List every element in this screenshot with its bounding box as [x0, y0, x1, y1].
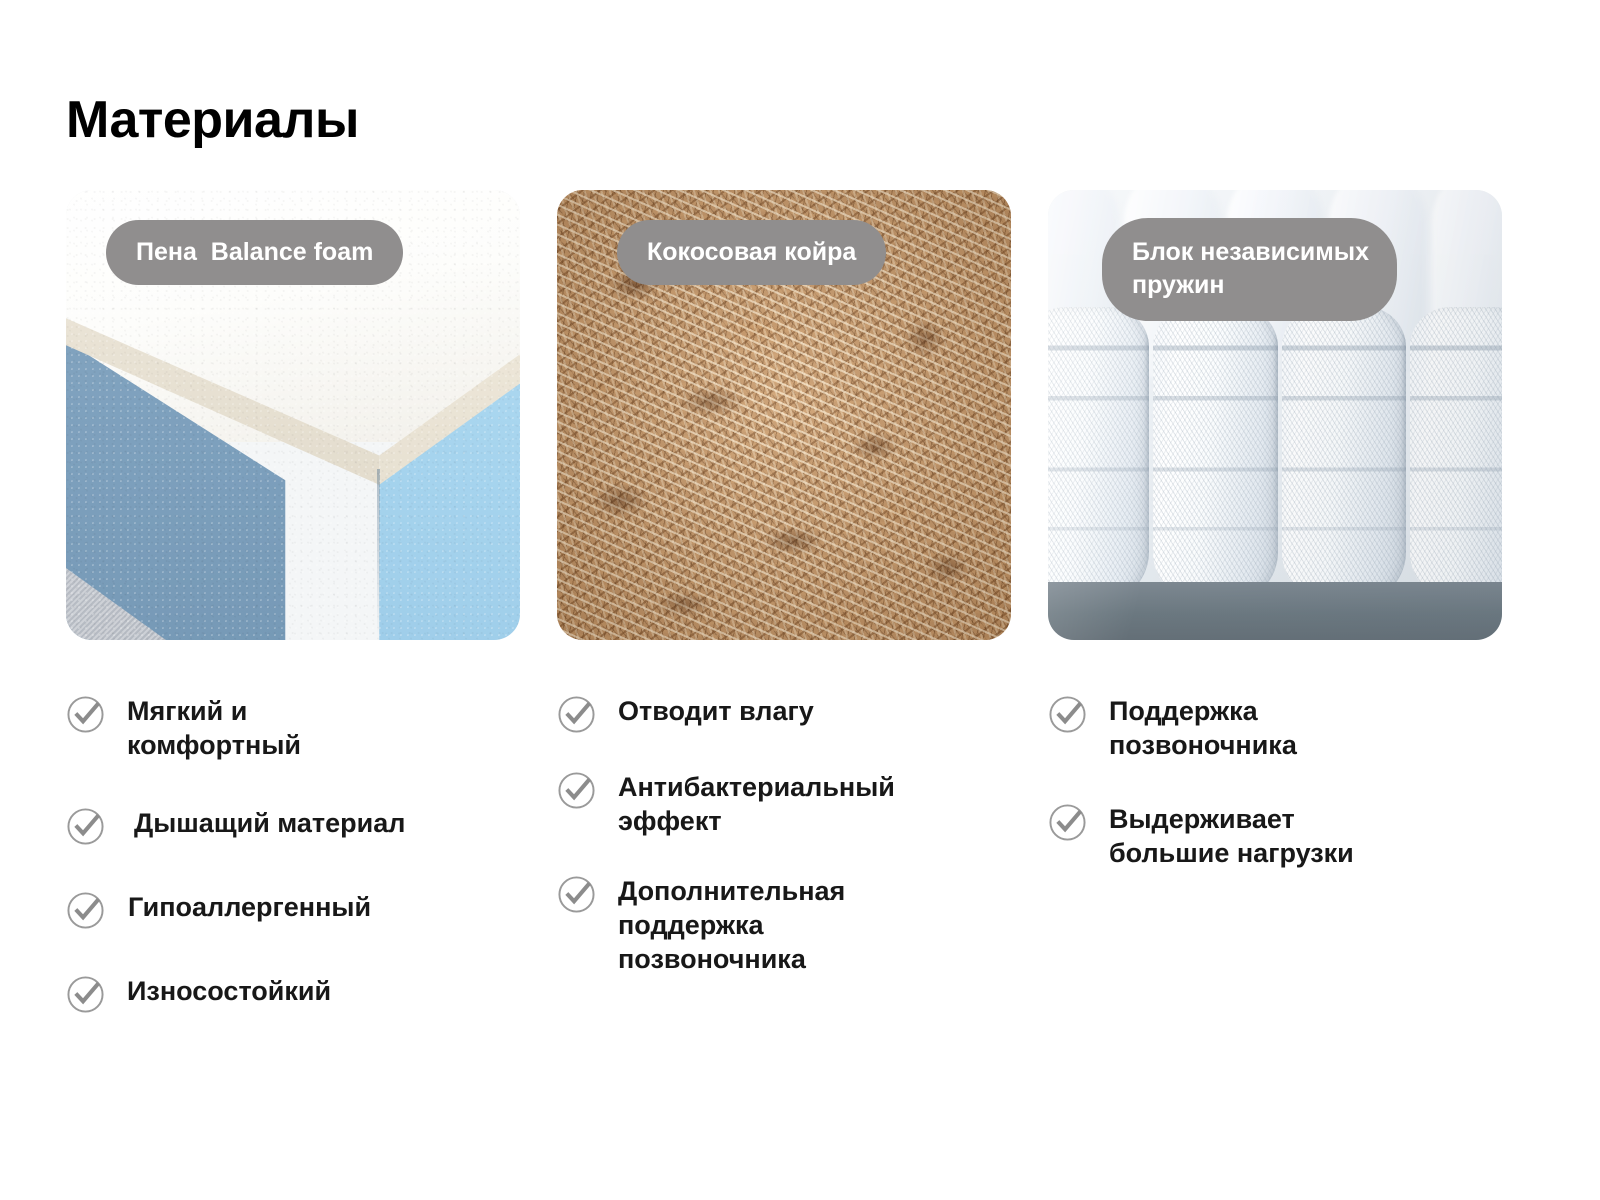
- material-badge-coir: Кокосовая койра: [617, 220, 886, 285]
- check-circle-icon: [66, 807, 105, 846]
- spring-seam: [1276, 319, 1278, 598]
- feature-label: Гипоаллергенный: [127, 888, 371, 924]
- feature-item: Гипоаллергенный: [66, 888, 520, 930]
- check-circle-icon: [1048, 803, 1087, 842]
- feature-column-springs: Поддержка позвоночника Выдерживает больш…: [1048, 692, 1502, 1014]
- feature-item: Дополнительная поддержка позвоночника: [557, 872, 1011, 976]
- check-circle-icon: [66, 695, 105, 734]
- feature-item: Износостойкий: [66, 972, 520, 1014]
- check-circle-icon: [1048, 695, 1087, 734]
- spring-coil: [1153, 307, 1277, 604]
- feature-columns: Мягкий и комфортный Дышащий материал Гип…: [66, 692, 1502, 1014]
- material-cards: Пена Balance foam Кокосовая койра: [66, 190, 1502, 640]
- feature-item: Антибактериальный эффект: [557, 768, 1011, 838]
- check-circle-icon: [557, 771, 596, 810]
- materials-slide: Материалы Пена Balance foam Кокосовая ко…: [0, 0, 1600, 1200]
- feature-item: Дышащий материал: [66, 804, 520, 846]
- spring-seam: [1404, 319, 1406, 598]
- page-title: Материалы: [66, 92, 359, 149]
- spring-coil: [1048, 307, 1149, 604]
- material-badge-springs: Блок независимых пружин: [1102, 218, 1397, 321]
- feature-label: Дышащий материал: [127, 804, 405, 840]
- spring-coil: [1282, 307, 1406, 604]
- feature-item: Отводит влагу: [557, 692, 1011, 734]
- check-circle-icon: [557, 875, 596, 914]
- feature-label: Антибактериальный эффект: [618, 768, 895, 838]
- feature-column-coir: Отводит влагу Антибактериальный эффект Д…: [557, 692, 1011, 1014]
- material-card-springs[interactable]: Блок независимых пружин: [1048, 190, 1502, 640]
- feature-label: Мягкий и комфортный: [127, 692, 301, 762]
- feature-label: Износостойкий: [127, 972, 331, 1008]
- feature-label: Дополнительная поддержка позвоночника: [618, 872, 845, 976]
- feature-item: Выдерживает большие нагрузки: [1048, 800, 1502, 870]
- check-circle-icon: [66, 975, 105, 1014]
- feature-label: Отводит влагу: [618, 692, 814, 728]
- spring-row-front: [1048, 307, 1502, 604]
- material-card-coir[interactable]: Кокосовая койра: [557, 190, 1011, 640]
- feature-column-foam: Мягкий и комфортный Дышащий материал Гип…: [66, 692, 520, 1014]
- feature-item: Поддержка позвоночника: [1048, 692, 1502, 762]
- foam-corner-crease: [377, 469, 380, 640]
- feature-label: Поддержка позвоночника: [1109, 692, 1297, 762]
- spring-seam: [1147, 319, 1149, 598]
- check-circle-icon: [66, 891, 105, 930]
- material-badge-foam: Пена Balance foam: [106, 220, 403, 285]
- material-card-foam[interactable]: Пена Balance foam: [66, 190, 520, 640]
- feature-label: Выдерживает большие нагрузки: [1109, 800, 1354, 870]
- feature-item: Мягкий и комфортный: [66, 692, 520, 762]
- check-circle-icon: [557, 695, 596, 734]
- spring-coil: [1410, 307, 1502, 604]
